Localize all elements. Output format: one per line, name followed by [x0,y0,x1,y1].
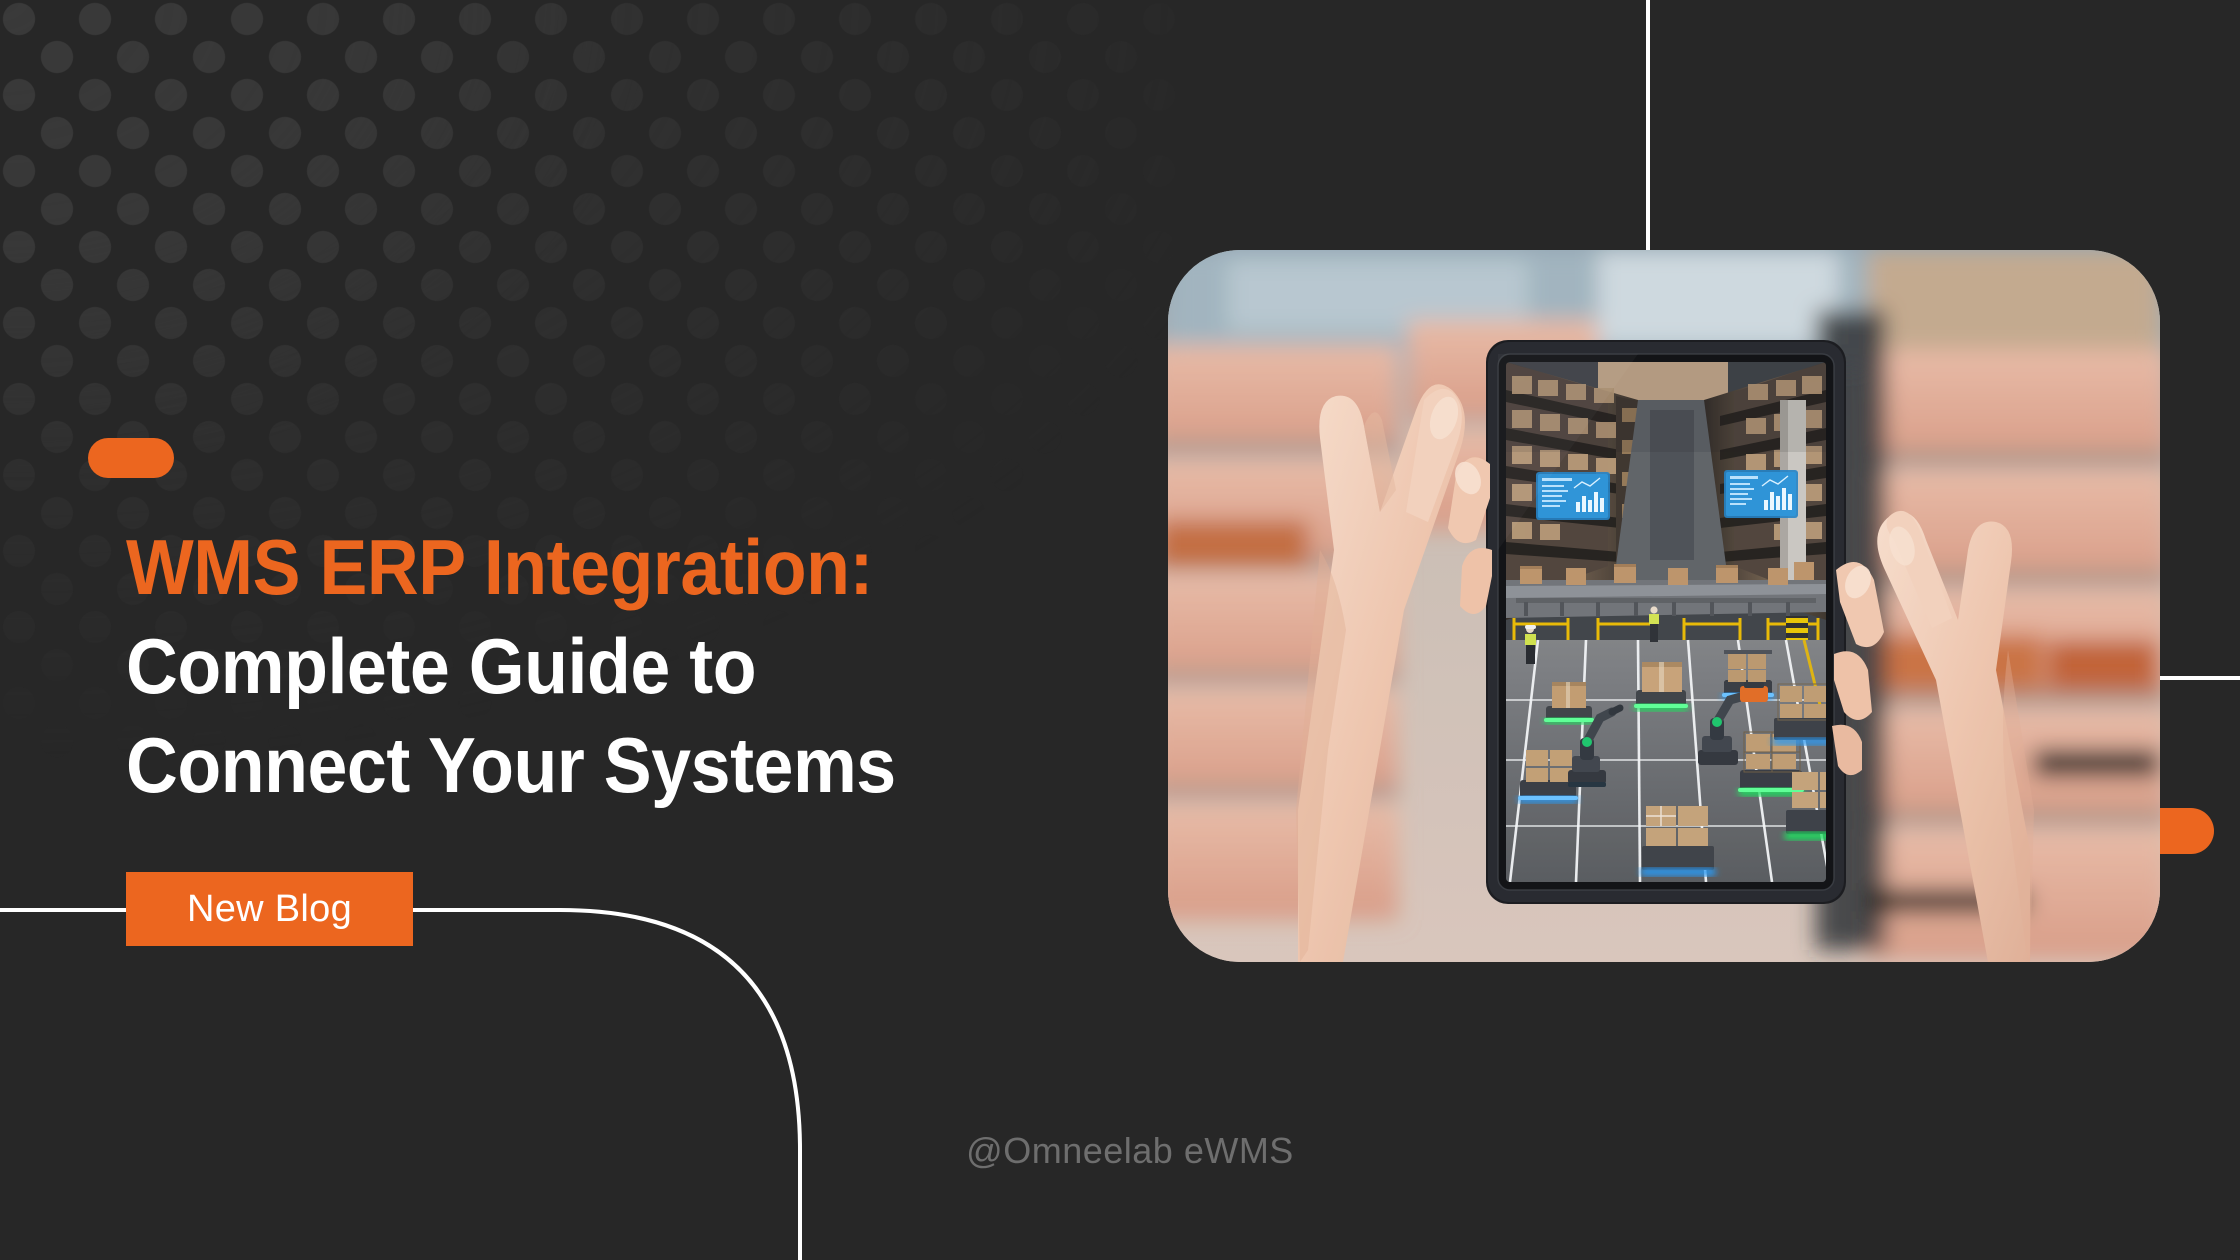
pill-decoration-left [88,438,174,478]
vertical-line-decoration [1646,0,1650,272]
poster-canvas: WMS ERP Integration: Complete Guide to C… [0,0,2240,1260]
new-blog-badge[interactable]: New Blog [126,872,413,946]
new-blog-badge-label: New Blog [187,888,352,931]
brand-handle: @Omneelab eWMS [0,1130,2240,1172]
hero-photo [1168,250,2160,962]
horizontal-line-decoration [2152,676,2240,680]
page-title: WMS ERP Integration: Complete Guide to C… [126,518,1186,815]
hero-photo-illustration [1168,250,2160,962]
headline-line-2: Complete Guide to [126,617,1101,716]
headline-line-1: WMS ERP Integration: [126,518,1101,617]
headline-line-3: Connect Your Systems [126,716,1101,815]
